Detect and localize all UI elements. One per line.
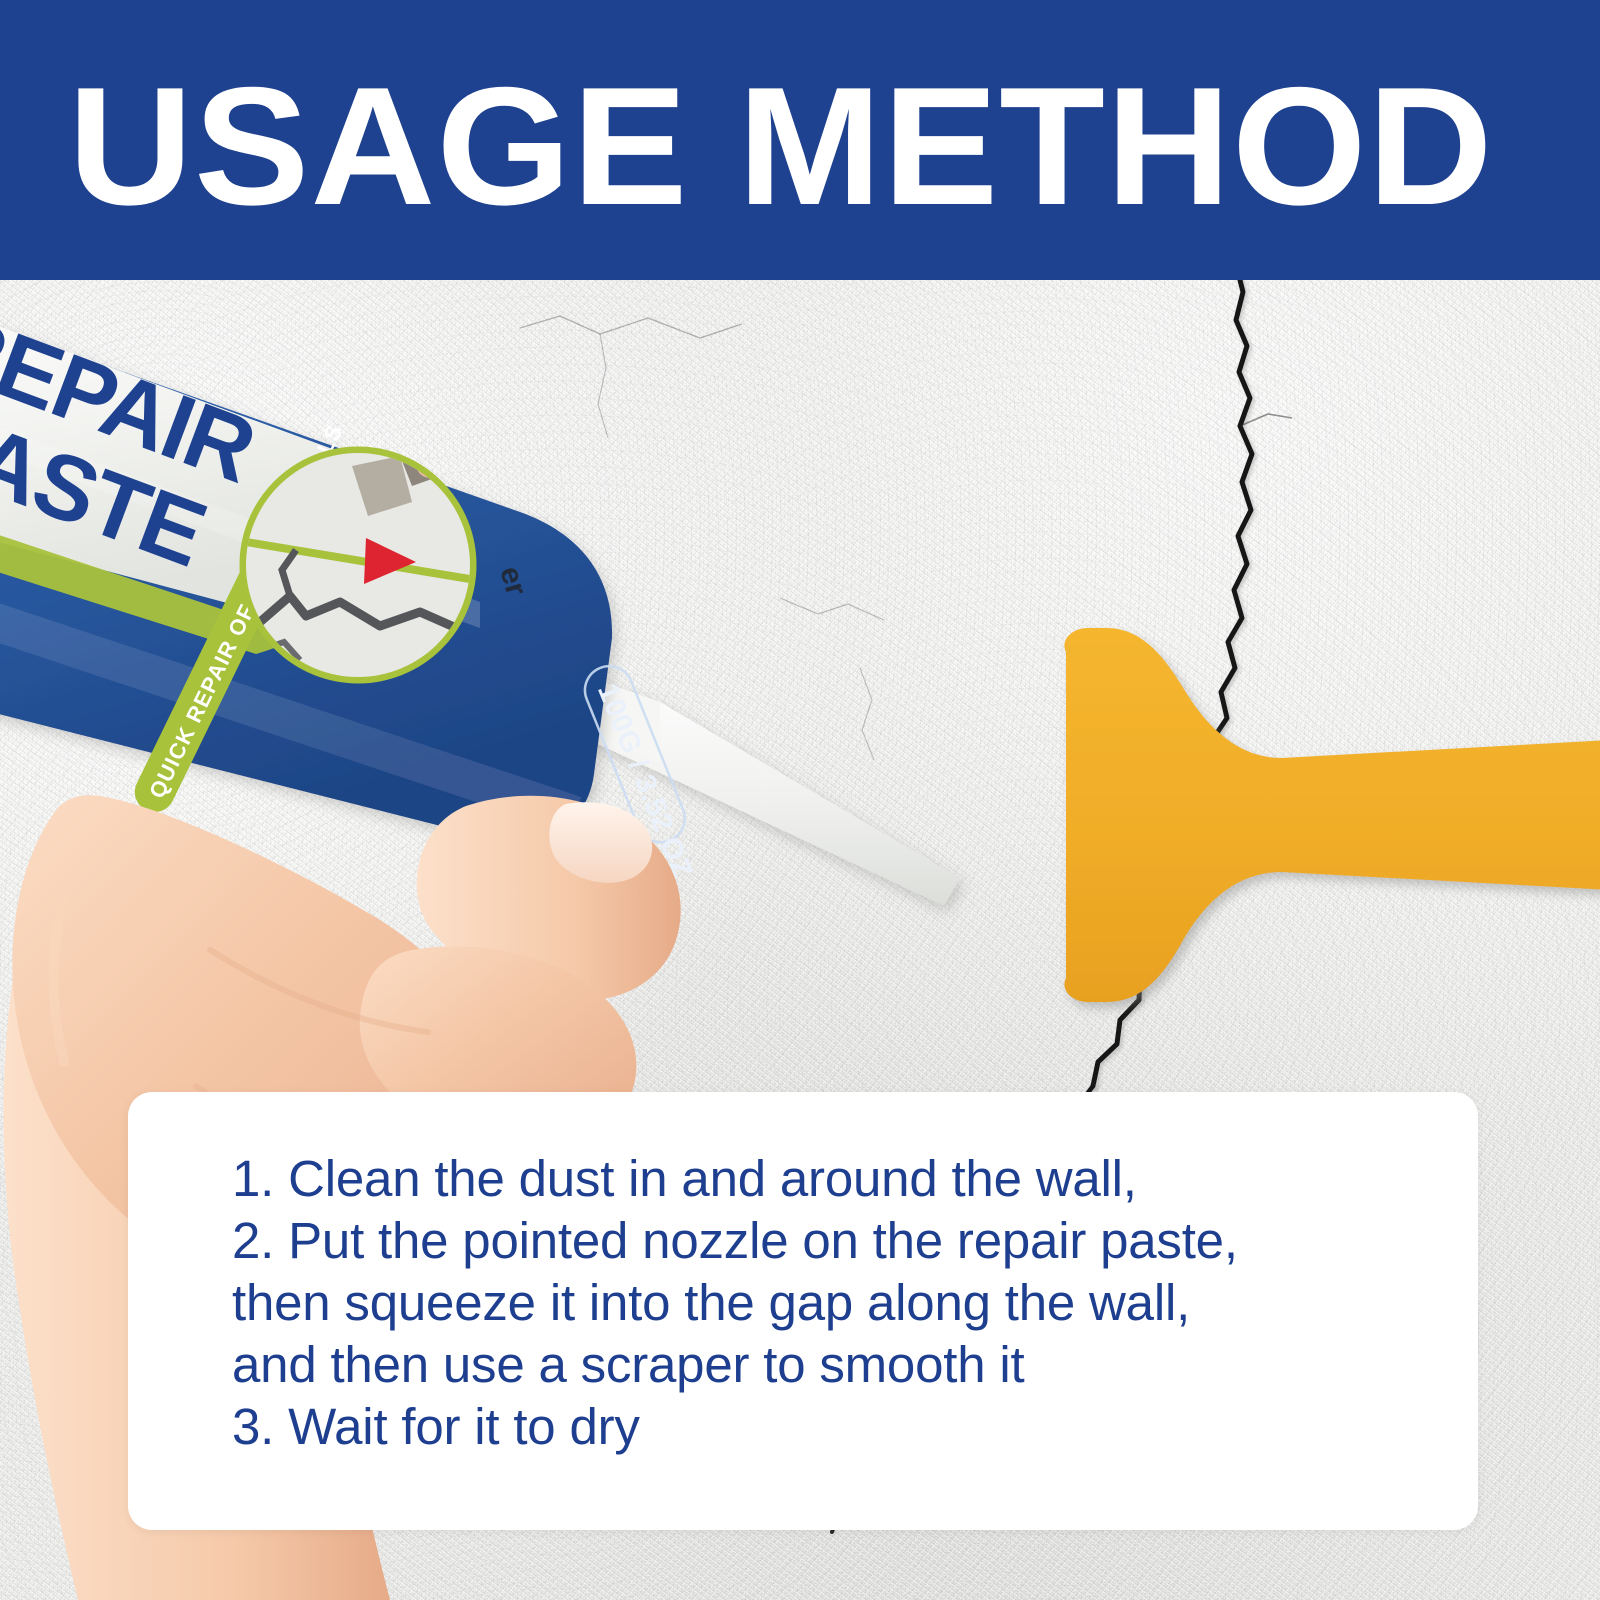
yellow-putty-scraper-icon [1010, 590, 1600, 1020]
instruction-line-2: 2. Put the pointed nozzle on the repair … [232, 1210, 1452, 1272]
infographic-canvas: REPAIR PASTE QUICK REPAIR OF BROKEN WALL… [0, 0, 1600, 1600]
instruction-line-4: and then use a scraper to smooth it [232, 1334, 1452, 1396]
header-banner: USAGE METHOD [0, 0, 1600, 280]
instruction-line-5: 3. Wait for it to dry [232, 1396, 1452, 1458]
instructions-text-block: 1. Clean the dust in and around the wall… [232, 1148, 1452, 1458]
label-demo-circle-graphic [244, 450, 476, 679]
instruction-line-3: then squeeze it into the gap along the w… [232, 1272, 1452, 1334]
instructions-card: 1. Clean the dust in and around the wall… [128, 1092, 1478, 1530]
instruction-line-1: 1. Clean the dust in and around the wall… [232, 1148, 1452, 1210]
page-title: USAGE METHOD [68, 62, 1494, 230]
